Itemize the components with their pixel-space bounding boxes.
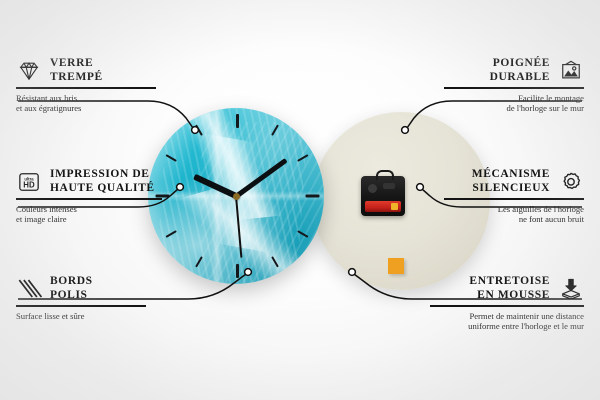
clock-tick bbox=[195, 124, 203, 135]
clock-front-view bbox=[148, 108, 324, 284]
feature-mecanisme-silencieux[interactable]: MÉCANISME SILENCIEUX Les aiguilles de l'… bbox=[444, 168, 584, 225]
feature-title-line2: EN MOUSSE bbox=[469, 289, 550, 303]
divider bbox=[444, 87, 584, 89]
clock-mechanism bbox=[361, 176, 405, 216]
feature-title-line1: BORDS bbox=[50, 275, 93, 289]
clock-tick bbox=[236, 264, 239, 278]
clock-tick bbox=[271, 124, 279, 135]
feature-desc-line1: Couleurs intenses bbox=[16, 204, 162, 215]
feature-desc-line1: Permet de maintenir une distance bbox=[430, 311, 584, 322]
divider bbox=[430, 305, 584, 307]
feature-impression-haute-qualite[interactable]: ultra HD IMPRESSION DE HAUTE QUALITÉ Cou… bbox=[16, 168, 162, 225]
ultra-hd-icon: ultra HD bbox=[16, 171, 42, 193]
feature-title-line1: ENTRETOISE bbox=[469, 275, 550, 289]
divider bbox=[444, 198, 584, 200]
feature-title-line2: HAUTE QUALITÉ bbox=[50, 182, 155, 196]
mechanism-knob bbox=[368, 184, 377, 193]
clock-tick bbox=[195, 256, 203, 267]
second-hand bbox=[235, 196, 242, 258]
divider bbox=[16, 87, 156, 89]
feature-title-line2: TREMPÉ bbox=[50, 71, 103, 85]
feature-title-line2: POLIS bbox=[50, 289, 93, 303]
battery bbox=[365, 201, 401, 212]
picture-frame-hanger-icon bbox=[558, 60, 584, 82]
clock-tick bbox=[236, 114, 239, 128]
feature-desc-line2: ne font aucun bruit bbox=[444, 214, 584, 225]
feature-desc-line1: Facilite le montage bbox=[444, 93, 584, 104]
clock-center-pin bbox=[233, 193, 240, 200]
feature-desc-line2: de l'horloge sur le mur bbox=[444, 103, 584, 114]
feature-desc-line2: et aux égratignures bbox=[16, 103, 156, 114]
diagonal-stripes-icon bbox=[16, 278, 42, 300]
feature-desc-line2: et image claire bbox=[16, 214, 162, 225]
clock-tick bbox=[297, 154, 308, 162]
feature-bords-polis[interactable]: BORDS POLIS Surface lisse et sûre bbox=[16, 275, 146, 321]
feature-desc-line2: uniforme entre l'horloge et le mur bbox=[430, 321, 584, 332]
feature-title-line1: MÉCANISME bbox=[472, 168, 550, 182]
infographic-canvas: VERRE TREMPÉ Résistant aux bris et aux é… bbox=[0, 0, 600, 400]
clock-tick bbox=[165, 154, 176, 162]
arrow-down-foam-icon bbox=[558, 278, 584, 300]
divider bbox=[16, 198, 162, 200]
clock-tick bbox=[271, 256, 279, 267]
feature-desc-line1: Surface lisse et sûre bbox=[16, 311, 146, 322]
divider bbox=[16, 305, 146, 307]
clock-tick bbox=[306, 195, 320, 198]
clock-tick bbox=[297, 230, 308, 238]
foam-spacer bbox=[388, 258, 404, 274]
feature-title-line1: POIGNÉE bbox=[490, 57, 550, 71]
feature-entretoise-en-mousse[interactable]: ENTRETOISE EN MOUSSE Permet de maintenir… bbox=[430, 275, 584, 332]
diamond-icon bbox=[16, 60, 42, 82]
feature-poignee-durable[interactable]: POIGNÉE DURABLE Facilite le montage de l… bbox=[444, 57, 584, 114]
feature-desc-line1: Les aiguilles de l'horloge bbox=[444, 204, 584, 215]
clock-tick bbox=[165, 230, 176, 238]
mechanism-slot bbox=[383, 183, 395, 189]
feature-verre-trempe[interactable]: VERRE TREMPÉ Résistant aux bris et aux é… bbox=[16, 57, 156, 114]
feature-title-line1: VERRE bbox=[50, 57, 103, 71]
feature-desc-line1: Résistant aux bris bbox=[16, 93, 156, 104]
ultra-hd-large-text: HD bbox=[23, 180, 35, 189]
feature-title-line1: IMPRESSION DE bbox=[50, 168, 155, 182]
feature-title-line2: SILENCIEUX bbox=[472, 182, 550, 196]
gear-icon bbox=[558, 171, 584, 193]
feature-title-line2: DURABLE bbox=[490, 71, 550, 85]
